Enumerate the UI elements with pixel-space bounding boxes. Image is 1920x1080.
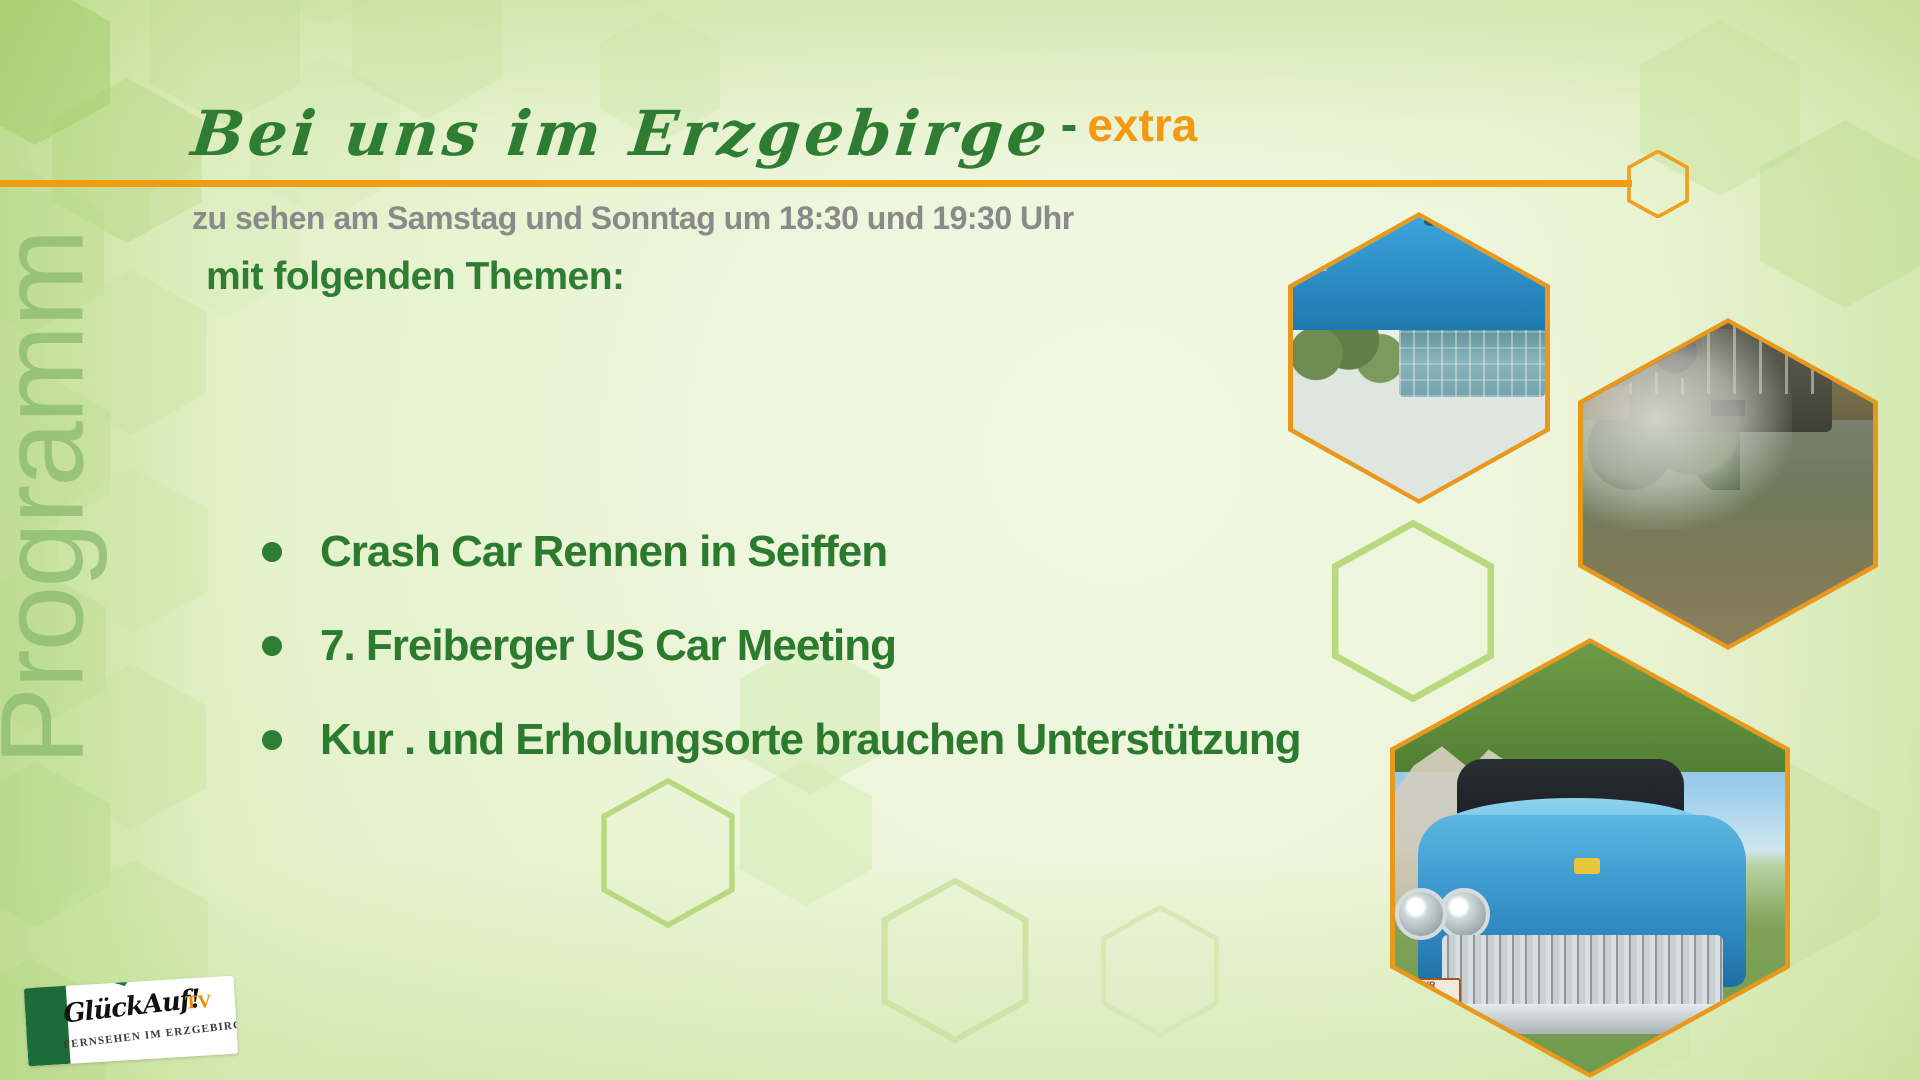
header-divider-line xyxy=(0,180,1632,187)
header-hex-accent-icon xyxy=(1624,150,1692,218)
title-extra-part: extra xyxy=(1087,98,1197,152)
list-item: 7. Freiberger US Car Meeting xyxy=(262,599,1301,693)
title-script-part: Bei uns im Erzgebirge xyxy=(188,97,1054,170)
bullet-dot-icon xyxy=(262,730,282,750)
list-item: Kur . und Erholungsorte brauchen Unterst… xyxy=(262,693,1301,787)
bullet-dot-icon xyxy=(262,542,282,562)
broadcast-times: zu sehen am Samstag und Sonntag um 18:30… xyxy=(192,200,1074,237)
slide-canvas: Programm Bei uns im Erzgebirge-extra zu … xyxy=(0,0,1920,1080)
logo-card: GlückAuf! TV FERNSEHEN IM ERZGEBIRGE xyxy=(24,976,238,1067)
channel-logo[interactable]: GlückAuf! TV FERNSEHEN IM ERZGEBIRGE xyxy=(26,982,236,1060)
topic-label: 7. Freiberger US Car Meeting xyxy=(320,621,896,671)
title-dash: - xyxy=(1051,95,1088,153)
topic-label: Crash Car Rennen in Seiffen xyxy=(320,527,887,577)
topic-label: Kur . und Erholungsorte brauchen Unterst… xyxy=(320,715,1301,765)
hex-outline-mid xyxy=(1330,520,1496,702)
vertical-section-label: Programm xyxy=(0,231,110,766)
list-item: Crash Car Rennen in Seiffen xyxy=(262,505,1301,599)
topics-heading: mit folgenden Themen: xyxy=(206,255,625,299)
bullet-dot-icon xyxy=(262,636,282,656)
logo-tv-suffix: TV xyxy=(184,991,212,1015)
page-title: Bei uns im Erzgebirge-extra xyxy=(192,95,1197,170)
topics-list: Crash Car Rennen in Seiffen 7. Freiberge… xyxy=(262,505,1301,787)
